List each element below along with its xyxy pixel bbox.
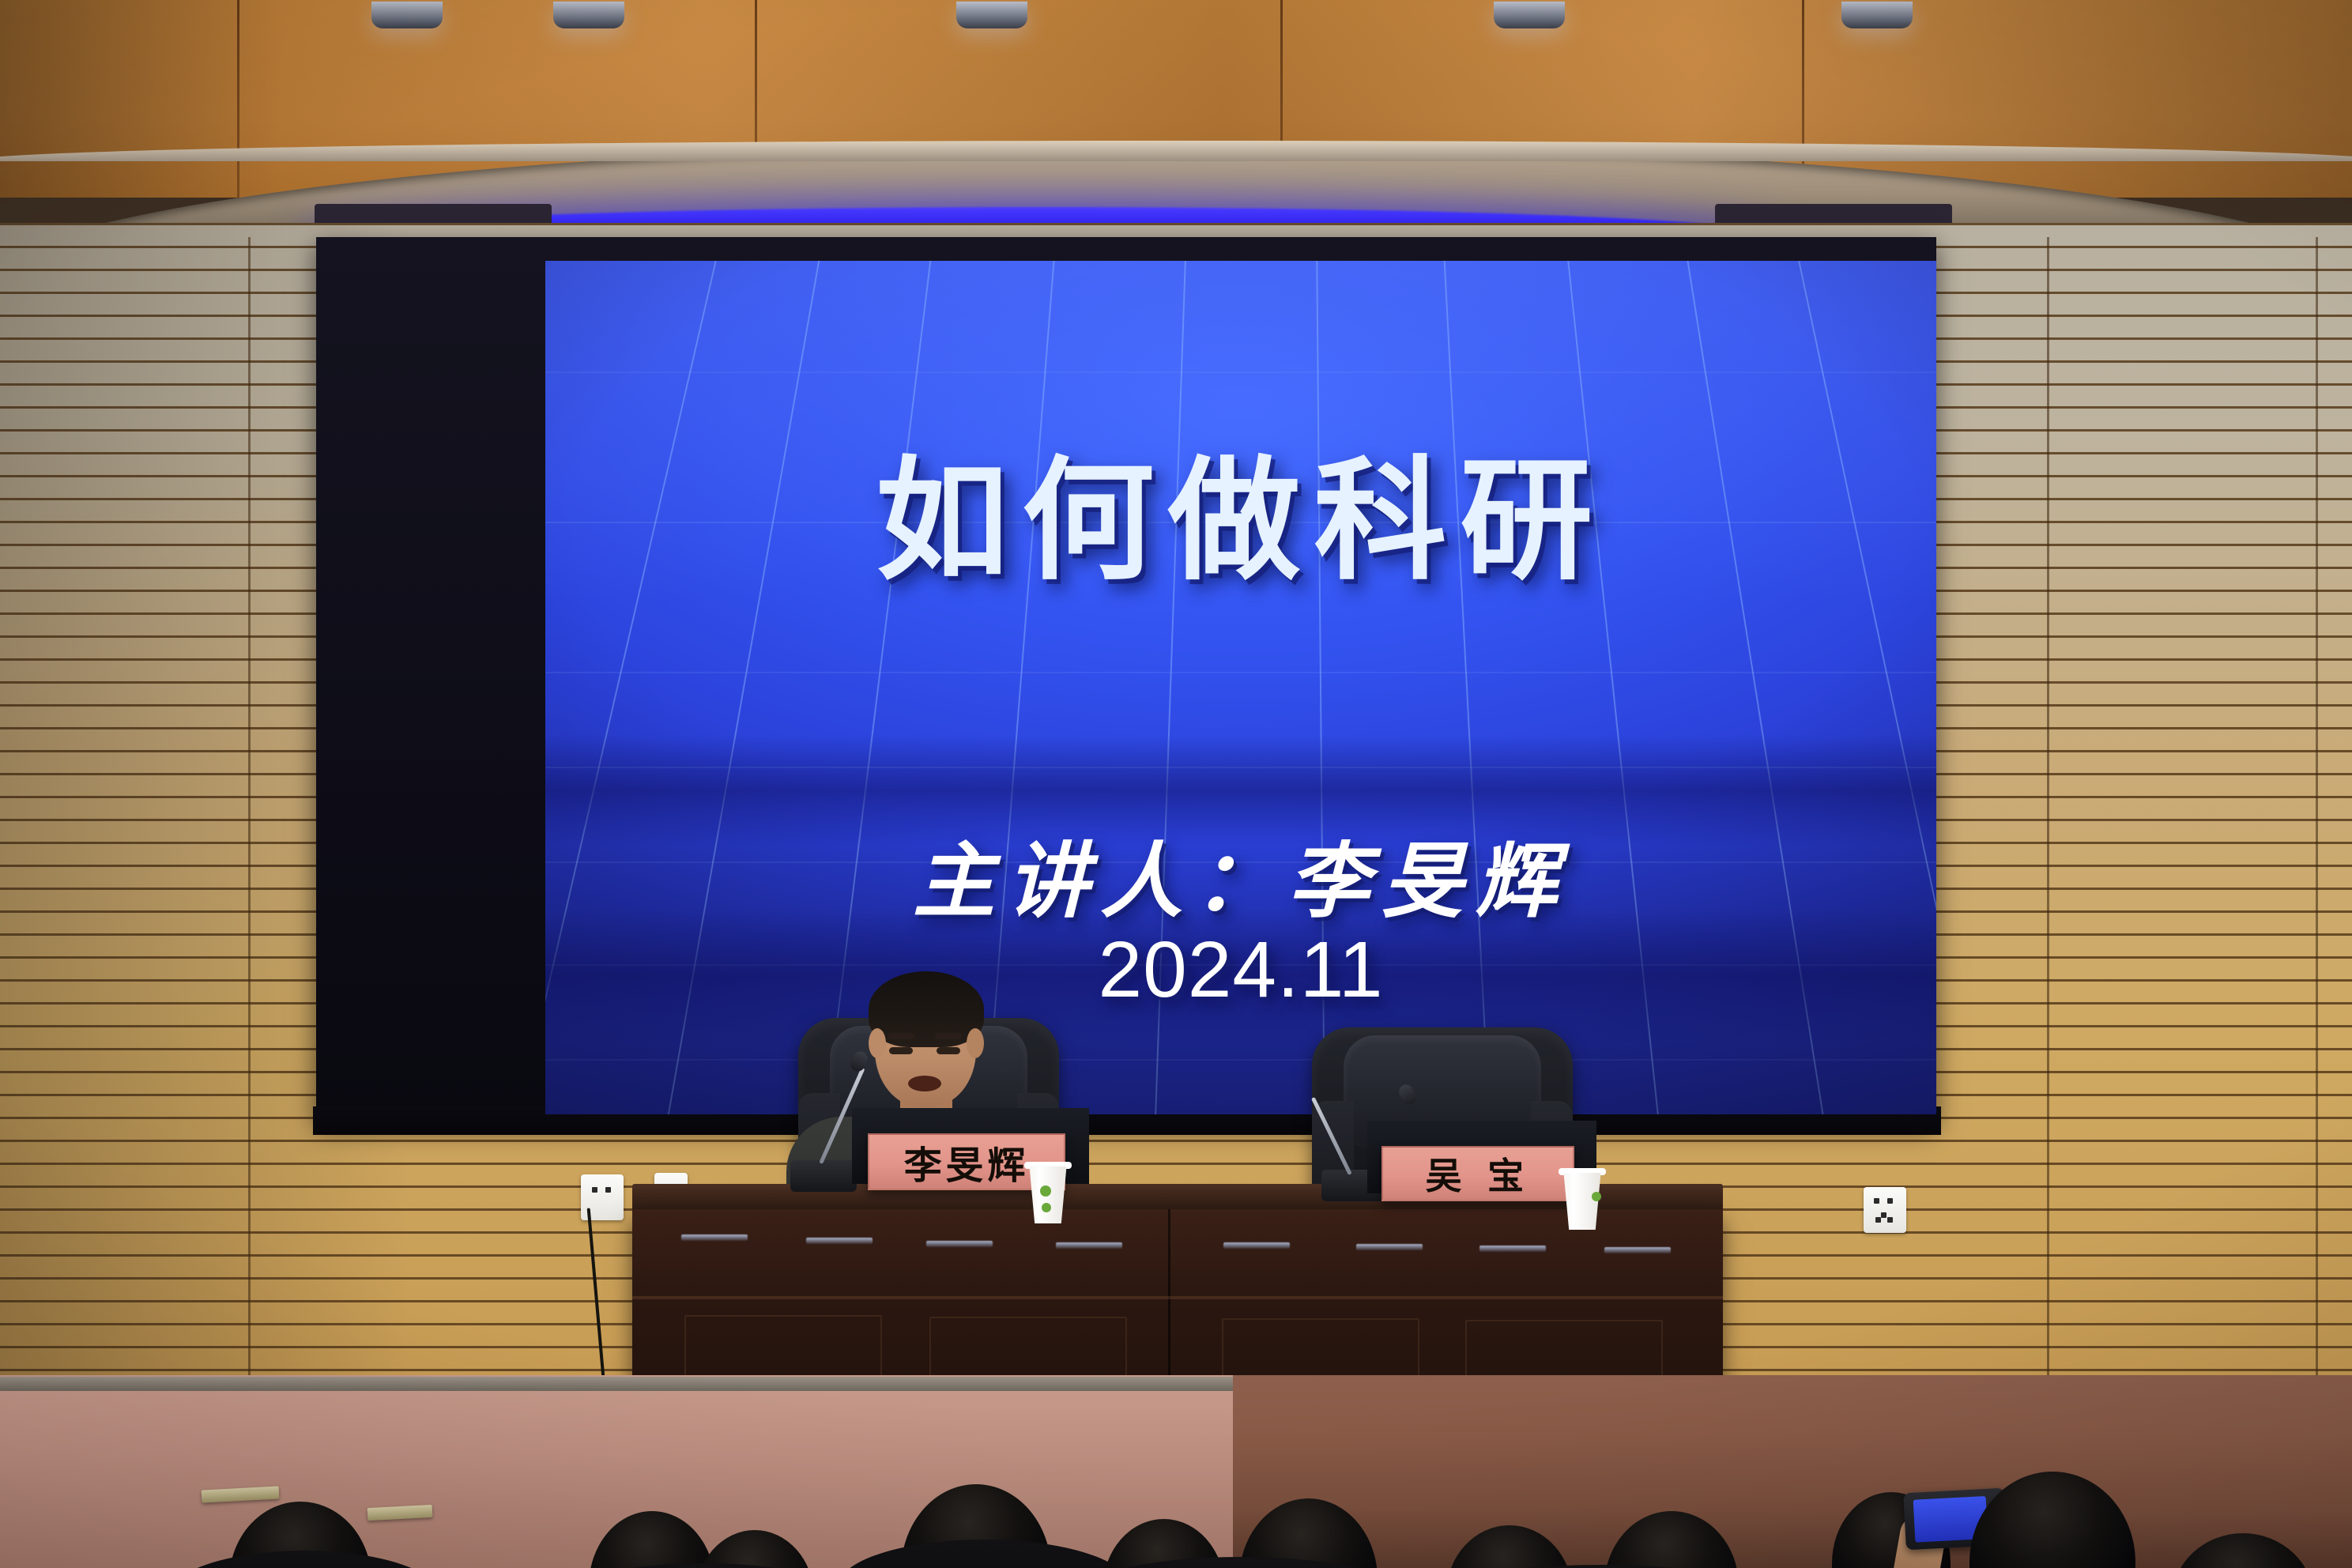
nameplate-second: 吴 宝 (1381, 1146, 1574, 1201)
wall-seam-far-right (2316, 237, 2318, 1391)
table-rail (632, 1296, 1723, 1299)
wall-power-outlet-right (1864, 1187, 1906, 1233)
recessed-spotlight-icon (553, 2, 624, 28)
cup-logo-right (1592, 1192, 1601, 1201)
slide-presenter-line: 主讲人：李旻辉 (545, 814, 1936, 933)
wall-seam-right (2047, 237, 2049, 1391)
microphone-base-left (790, 1160, 857, 1192)
recessed-spotlight-icon (1841, 2, 1913, 28)
slide-title: 如何做科研 (545, 450, 1936, 590)
recessed-spotlight-icon (1494, 2, 1565, 28)
wall-seam-left (248, 237, 251, 1391)
cup-logo-left-2 (1042, 1203, 1051, 1212)
lecture-hall-scene: 如何做科研 主讲人：李旻辉 2024.11 (0, 0, 2352, 1568)
recessed-spotlight-icon (371, 2, 443, 28)
cup-logo-left (1040, 1185, 1051, 1197)
presentation-slide: 如何做科研 主讲人：李旻辉 2024.11 (545, 261, 1936, 1114)
floor-baseboard (0, 1377, 1233, 1391)
slide-date: 2024.11 (545, 925, 1936, 1016)
recessed-spotlight-icon (956, 2, 1027, 28)
